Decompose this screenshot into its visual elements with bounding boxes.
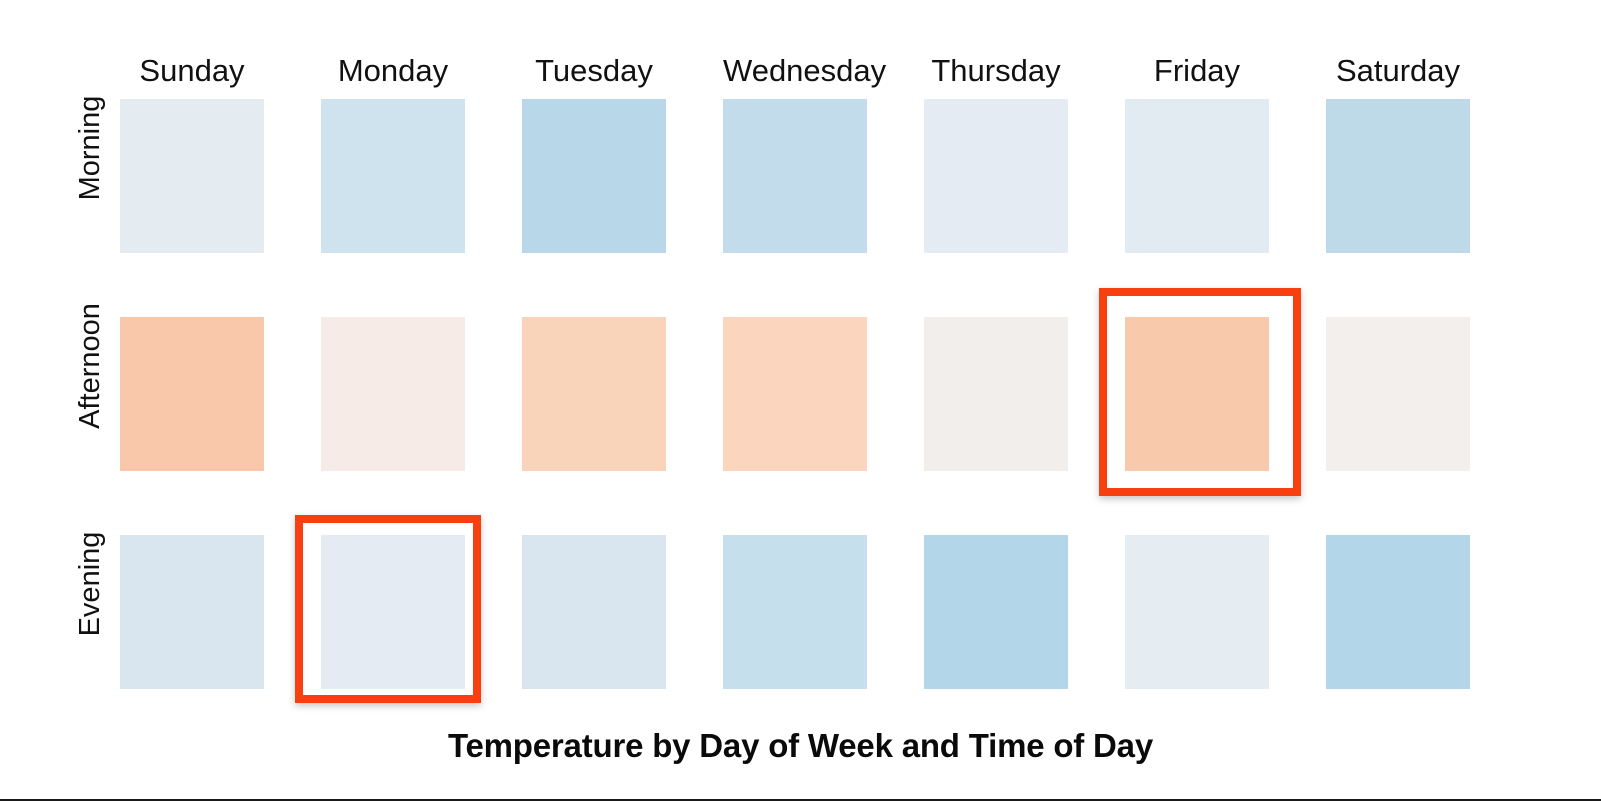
cell-morning-monday[interactable] <box>321 99 465 253</box>
cell-evening-thursday[interactable] <box>924 535 1068 689</box>
cell-evening-sunday[interactable] <box>120 535 264 689</box>
cell-morning-wednesday[interactable] <box>723 99 867 253</box>
cell-morning-thursday[interactable] <box>924 99 1068 253</box>
cell-morning-tuesday[interactable] <box>522 99 666 253</box>
cell-evening-saturday[interactable] <box>1326 535 1470 689</box>
heatmap-figure: Sunday Monday Tuesday Wednesday Thursday… <box>0 0 1601 801</box>
chart-title: Temperature by Day of Week and Time of D… <box>0 727 1601 765</box>
cell-evening-wednesday[interactable] <box>723 535 867 689</box>
cell-afternoon-wednesday[interactable] <box>723 317 867 471</box>
cell-evening-friday[interactable] <box>1125 535 1269 689</box>
cell-evening-monday[interactable] <box>321 535 465 689</box>
cell-morning-saturday[interactable] <box>1326 99 1470 253</box>
cell-morning-friday[interactable] <box>1125 99 1269 253</box>
cell-afternoon-friday[interactable] <box>1125 317 1269 471</box>
cell-afternoon-sunday[interactable] <box>120 317 264 471</box>
heatmap-cell-grid <box>0 0 1601 801</box>
cell-afternoon-saturday[interactable] <box>1326 317 1470 471</box>
cell-morning-sunday[interactable] <box>120 99 264 253</box>
cell-evening-tuesday[interactable] <box>522 535 666 689</box>
cell-afternoon-monday[interactable] <box>321 317 465 471</box>
cell-afternoon-thursday[interactable] <box>924 317 1068 471</box>
cell-afternoon-tuesday[interactable] <box>522 317 666 471</box>
